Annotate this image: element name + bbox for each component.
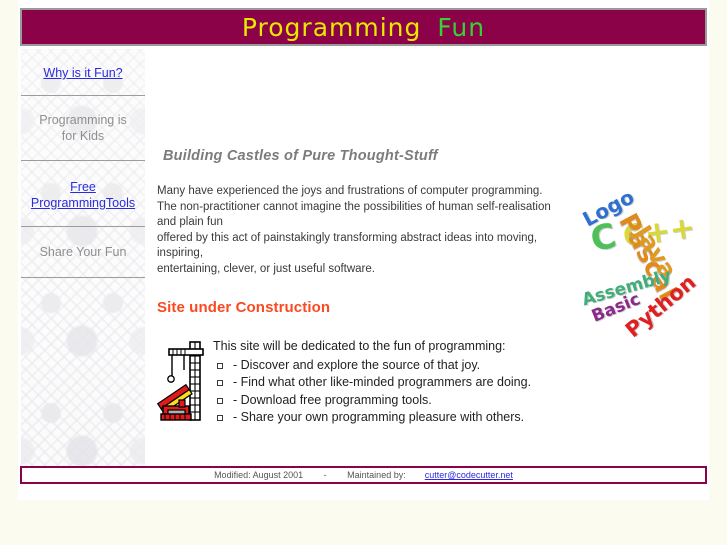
sidebar-item-label-line-2[interactable]: ProgrammingTools bbox=[21, 195, 145, 211]
page-title: ProgrammingFun bbox=[242, 15, 485, 40]
page-title-word-fun: Fun bbox=[437, 13, 485, 42]
sidebar-nav: Why is it Fun? Programming is for Kids F… bbox=[21, 49, 145, 468]
sidebar-item-share-your-fun: Share Your Fun bbox=[21, 227, 145, 277]
list-item-label: - Share your own programming pleasure wi… bbox=[233, 410, 524, 424]
intro-line-1: Many have experienced the joys and frust… bbox=[157, 184, 557, 200]
construction-heading: Site under Construction bbox=[157, 299, 567, 316]
sidebar-item-label[interactable]: Why is it Fun? bbox=[43, 66, 122, 80]
intro-line-4: entertaining, clever, or just useful sof… bbox=[157, 262, 557, 278]
blurb-lead: This site will be dedicated to the fun o… bbox=[213, 338, 531, 356]
sidebar-item-label-line-2: for Kids bbox=[21, 128, 145, 144]
footer-email-link[interactable]: cutter@codecutter.net bbox=[425, 470, 513, 480]
list-item: - Download free programming tools. bbox=[217, 392, 531, 410]
sidebar-item-why-is-it-fun[interactable]: Why is it Fun? bbox=[21, 49, 145, 95]
page-root: ProgrammingFun Why is it Fun? Programmin… bbox=[0, 0, 727, 545]
content-subtitle: Building Castles of Pure Thought-Stuff bbox=[163, 148, 567, 164]
square-bullet-icon bbox=[217, 363, 223, 369]
list-item: - Discover and explore the source of tha… bbox=[217, 357, 531, 375]
footer-modified-label: Modified: August 2001 bbox=[214, 470, 303, 480]
sidebar-item-label-line-1: Programming is bbox=[21, 112, 145, 128]
footer-maintained-label: Maintained by: bbox=[347, 470, 406, 480]
square-bullet-icon bbox=[217, 415, 223, 421]
list-item: - Share your own programming pleasure wi… bbox=[217, 409, 531, 427]
footer-bar: Modified: August 2001 - Maintained by: c… bbox=[20, 466, 707, 484]
list-item-label: - Discover and explore the source of tha… bbox=[233, 358, 480, 372]
list-item: - Find what other like-minded programmer… bbox=[217, 374, 531, 392]
blurb-row: This site will be dedicated to the fun o… bbox=[157, 338, 567, 427]
intro-paragraph: Many have experienced the joys and frust… bbox=[157, 184, 557, 277]
footer-text: Modified: August 2001 - Maintained by: c… bbox=[214, 470, 513, 480]
intro-line-2: The non-practitioner cannot imagine the … bbox=[157, 200, 557, 231]
header-banner: ProgrammingFun bbox=[20, 8, 707, 46]
page-title-word-programming: Programming bbox=[242, 13, 422, 42]
feature-list: - Discover and explore the source of tha… bbox=[213, 357, 531, 427]
footer-separator: - bbox=[306, 470, 345, 480]
blurb-text: This site will be dedicated to the fun o… bbox=[213, 338, 531, 427]
list-item-label: - Download free programming tools. bbox=[233, 393, 432, 407]
square-bullet-icon bbox=[217, 398, 223, 404]
main-content: Building Castles of Pure Thought-Stuff M… bbox=[157, 148, 567, 427]
construction-crane-icon bbox=[157, 340, 205, 422]
list-item-label: - Find what other like-minded programmer… bbox=[233, 375, 531, 389]
sidebar-divider bbox=[21, 277, 145, 278]
sidebar-item-free-programming-tools[interactable]: Free ProgrammingTools bbox=[21, 161, 145, 226]
programming-languages-wordart: Logo C C++ Pascal Java Assembly Basic Py… bbox=[575, 188, 695, 353]
square-bullet-icon bbox=[217, 380, 223, 386]
sidebar-item-label: Share Your Fun bbox=[40, 245, 127, 259]
sidebar-item-label-line-1[interactable]: Free bbox=[21, 179, 145, 195]
sidebar-item-programming-is-for-kids: Programming is for Kids bbox=[21, 96, 145, 160]
intro-line-3: offered by this act of painstakingly tra… bbox=[157, 231, 557, 262]
